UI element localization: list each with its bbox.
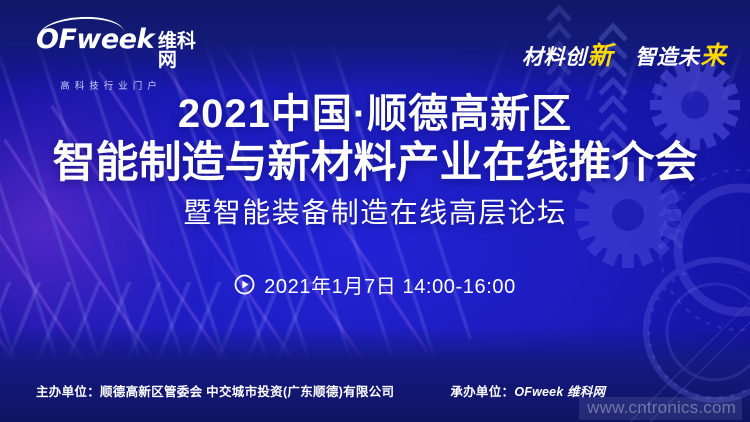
organizer-text: 主办单位：顺德高新区管委会 中交城市投资(广东顺德)有限公司 <box>36 381 394 400</box>
event-datetime-text: 2021年1月7日 14:00-16:00 <box>264 270 516 299</box>
slogan-part1-highlight: 新 <box>587 36 613 72</box>
slogan-part2-base: 智造未 <box>635 41 700 71</box>
event-poster: OFweek 维科网 高科技行业门户 材料创新 智造未来 2021中国·顺德高新… <box>0 0 750 422</box>
page-title-line1: 2021中国·顺德高新区 <box>0 92 750 137</box>
slogan: 材料创新 智造未来 <box>522 36 726 72</box>
event-datetime: 2021年1月7日 14:00-16:00 <box>0 270 750 299</box>
slogan-part2-highlight: 来 <box>700 36 726 72</box>
host-label: 承办单位： <box>450 385 514 399</box>
watermark: www.cntronics.com <box>579 397 742 420</box>
logo-tagline: 高科技行业门户 <box>36 78 186 92</box>
slogan-part-2: 智造未来 <box>635 36 726 72</box>
play-circle-icon[interactable] <box>234 274 255 295</box>
title-block: 2021中国·顺德高新区 智能制造与新材料产业在线推介会 暨智能装备制造在线高层… <box>0 92 750 230</box>
logo-cn-text: 维科网 <box>158 32 196 70</box>
slogan-part-1: 材料创新 <box>522 36 613 72</box>
ofweek-logo[interactable]: OFweek 维科网 高科技行业门户 <box>36 26 196 72</box>
page-title-line2: 智能制造与新材料产业在线推介会 <box>0 139 750 188</box>
slogan-part1-base: 材料创 <box>522 41 587 71</box>
page-subtitle: 暨智能装备制造在线高层论坛 <box>0 196 750 230</box>
